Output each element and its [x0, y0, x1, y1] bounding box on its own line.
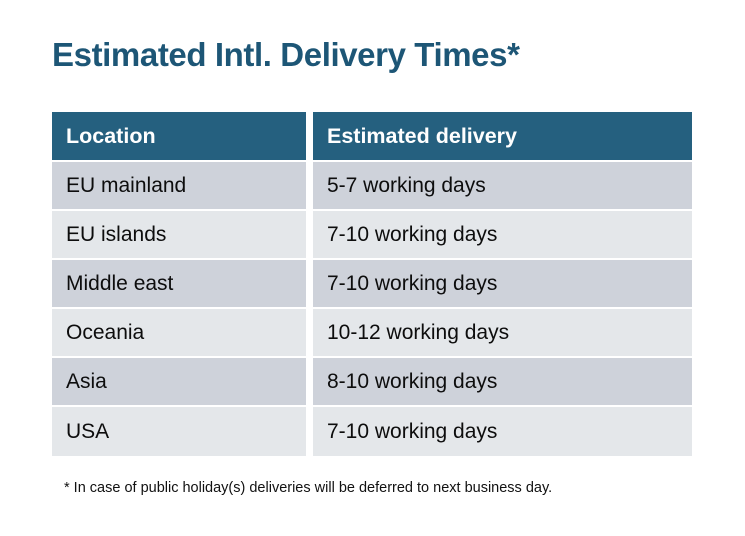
table-header-row: Location Estimated delivery: [52, 112, 692, 162]
cell-location: Oceania: [52, 309, 313, 358]
cell-delivery: 10-12 working days: [313, 309, 692, 358]
cell-location: Middle east: [52, 260, 313, 309]
cell-location: Asia: [52, 358, 313, 407]
column-header-location: Location: [52, 112, 313, 162]
footnote-text: * In case of public holiday(s) deliverie…: [64, 480, 552, 496]
table-body: EU mainland 5-7 working days EU islands …: [52, 162, 692, 456]
delivery-times-table: Location Estimated delivery EU mainland …: [52, 112, 692, 456]
cell-delivery: 7-10 working days: [313, 211, 692, 260]
cell-delivery: 5-7 working days: [313, 162, 692, 211]
delivery-times-card: Estimated Intl. Delivery Times* Location…: [0, 0, 745, 536]
cell-delivery: 8-10 working days: [313, 358, 692, 407]
table-header: Location Estimated delivery: [52, 112, 692, 162]
table-row: USA 7-10 working days: [52, 407, 692, 456]
table-row: Oceania 10-12 working days: [52, 309, 692, 358]
page-title: Estimated Intl. Delivery Times*: [52, 36, 520, 74]
table-row: Middle east 7-10 working days: [52, 260, 692, 309]
cell-delivery: 7-10 working days: [313, 260, 692, 309]
cell-delivery: 7-10 working days: [313, 407, 692, 456]
table-row: Asia 8-10 working days: [52, 358, 692, 407]
column-header-estimated-delivery: Estimated delivery: [313, 112, 692, 162]
table-row: EU mainland 5-7 working days: [52, 162, 692, 211]
cell-location: EU islands: [52, 211, 313, 260]
cell-location: EU mainland: [52, 162, 313, 211]
table-row: EU islands 7-10 working days: [52, 211, 692, 260]
cell-location: USA: [52, 407, 313, 456]
